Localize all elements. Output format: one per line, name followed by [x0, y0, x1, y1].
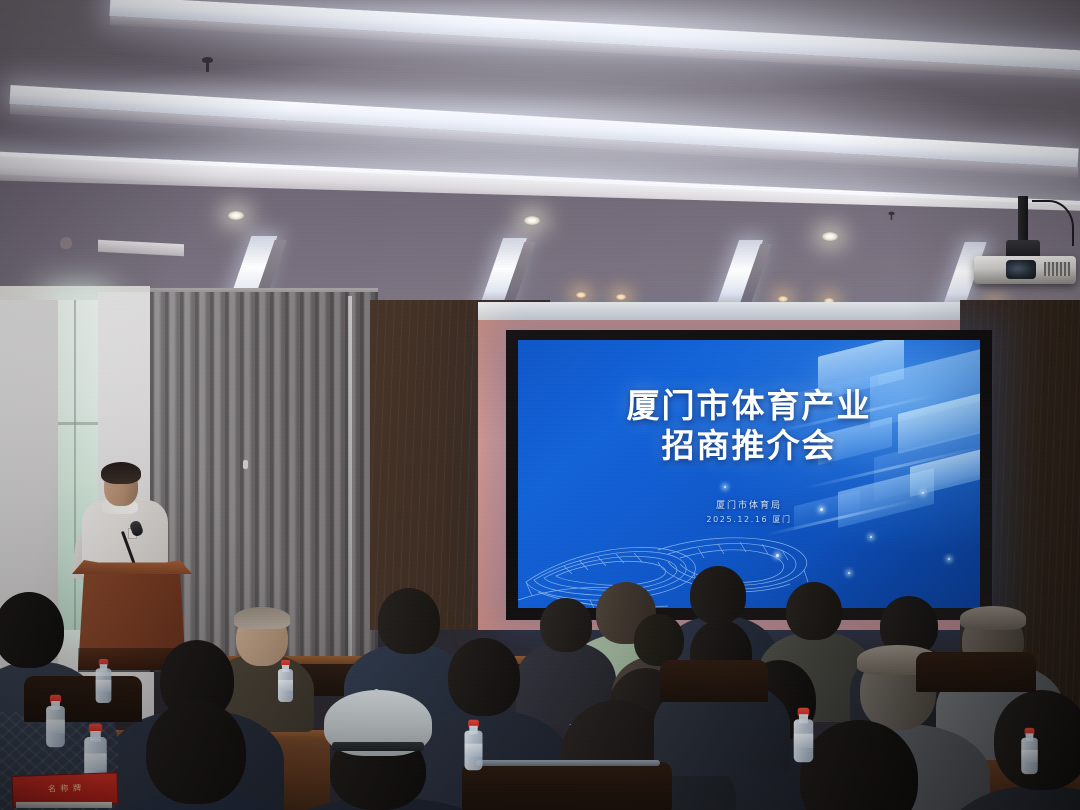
- chair-back: [24, 676, 142, 722]
- projector-cable: [1032, 200, 1074, 246]
- screen-spark-7: [724, 486, 726, 488]
- ceiling-sprinkler-icon-2: [887, 212, 895, 221]
- water-bottle: [96, 659, 112, 703]
- chair-back: [660, 660, 768, 702]
- chair-back: [916, 652, 1036, 692]
- chair-rail: [476, 760, 660, 766]
- water-bottle: [46, 695, 65, 748]
- projector-vent: [1044, 262, 1070, 276]
- conference-room-photo: 厦门市体育产业 招商推介会 厦门市体育局 2025.12.16 厦门: [0, 0, 1080, 810]
- ceiling-downlight-4: [576, 292, 586, 298]
- water-bottle: [278, 660, 293, 702]
- screen-title-line1: 厦门市体育产业: [627, 386, 872, 425]
- name-placard-stand: [16, 802, 112, 808]
- screen-title-line2: 招商推介会: [518, 426, 980, 466]
- ceiling-downlight-5: [616, 294, 626, 300]
- presentation-screen[interactable]: 厦门市体育产业 招商推介会 厦门市体育局 2025.12.16 厦门: [518, 340, 980, 608]
- water-bottle: [465, 720, 483, 770]
- wall-cornice: [478, 302, 998, 320]
- ceiling: [0, 0, 1080, 330]
- chair-back: [462, 762, 672, 810]
- name-placard-text: 名 称 牌: [13, 781, 117, 796]
- door-handle: [243, 460, 248, 469]
- screen-spark-6: [848, 572, 850, 574]
- ceiling-downlight-2: [524, 216, 540, 225]
- screen-title: 厦门市体育产业 招商推介会: [518, 386, 980, 466]
- water-bottle: [1021, 728, 1038, 774]
- ceiling-downlight-3: [822, 232, 838, 241]
- screen-organizer: 厦门市体育局: [518, 498, 980, 511]
- ceiling-downlight-1: [228, 211, 244, 220]
- screen-date-location: 2025.12.16 厦门: [518, 514, 980, 525]
- curtain-light-seam: [348, 296, 352, 664]
- cap-strap: [332, 742, 424, 751]
- cap-button: [374, 689, 379, 693]
- projector-lens: [1006, 260, 1036, 279]
- screen-spark-5: [948, 558, 950, 560]
- ceiling-sprinkler-icon: [200, 57, 215, 73]
- presenter-hair: [101, 462, 141, 484]
- water-bottle: [794, 708, 814, 763]
- ceiling-projector: [984, 196, 1076, 292]
- screen-spark-3: [922, 492, 924, 494]
- ceiling-speaker-dome: [60, 237, 72, 249]
- screen-spark-2: [870, 536, 872, 538]
